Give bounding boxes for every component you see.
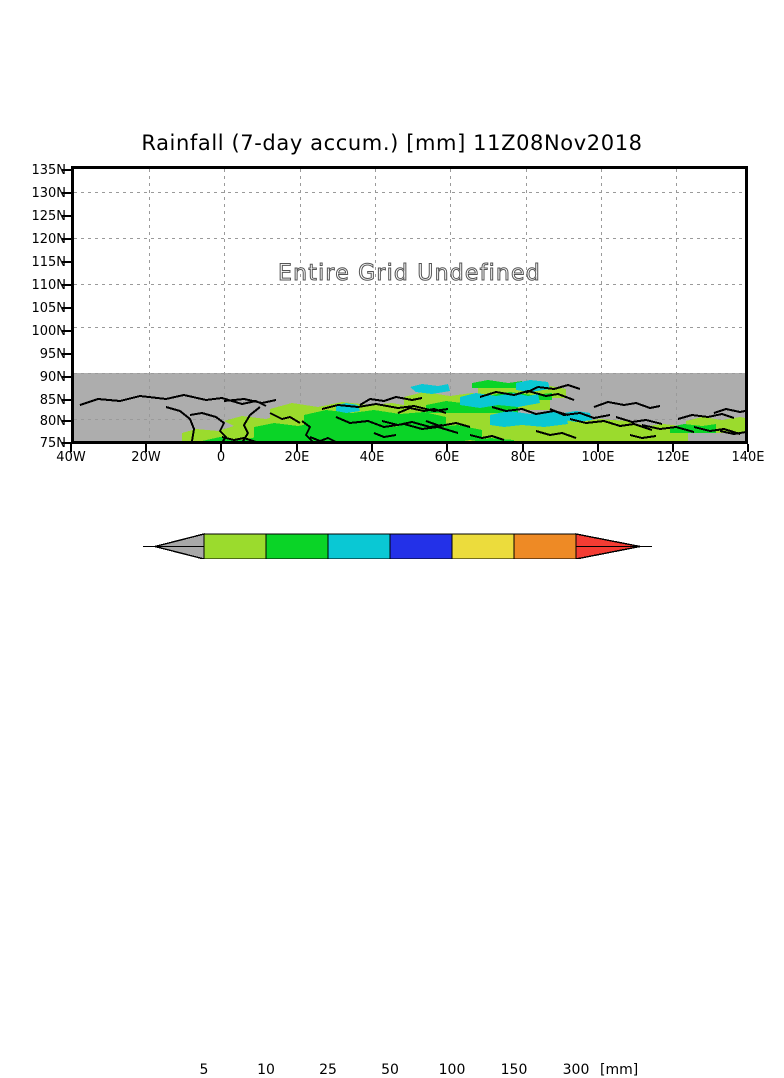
- colorbar-block-5-10: [204, 534, 266, 559]
- y-tick-mark-80n: [62, 420, 71, 422]
- x-tick-mark-80e: [522, 444, 524, 452]
- y-tick-label-100n: 100N: [20, 324, 66, 339]
- y-tick-label-130n: 130N: [20, 186, 66, 201]
- y-tick-mark-120n: [62, 238, 71, 240]
- y-tick-label-120n: 120N: [20, 232, 66, 247]
- y-tick-mark-100n: [62, 330, 71, 332]
- colorbar-tick-150: 150: [484, 1062, 544, 1078]
- y-tick-mark-115n: [62, 261, 71, 263]
- colorbar-block-25-50: [328, 534, 390, 559]
- y-tick-label-115n: 115N: [20, 255, 66, 270]
- colorbar-tick-25: 25: [298, 1062, 358, 1078]
- y-tick-mark-90n: [62, 376, 71, 378]
- y-tick-label-105n: 105N: [20, 301, 66, 316]
- map-canvas: Entire Grid Undefined: [74, 169, 745, 441]
- x-tick-mark-20e: [296, 444, 298, 452]
- x-tick-label-80e: 80E: [493, 450, 553, 465]
- y-tick-label-95n: 95N: [20, 347, 66, 362]
- x-tick-label-40w: 40W: [41, 450, 101, 465]
- x-tick-mark-40e: [371, 444, 373, 452]
- x-tick-mark-20w: [145, 444, 147, 452]
- y-tick-label-90n: 90N: [20, 370, 66, 385]
- y-tick-label-135n: 135N: [20, 163, 66, 178]
- colorbar-units-label: [mm]: [600, 1062, 638, 1078]
- x-tick-label-120e: 120E: [643, 450, 703, 465]
- colorbar-block-50-100: [390, 534, 452, 559]
- x-tick-mark-140e: [747, 444, 749, 452]
- y-tick-label-110n: 110N: [20, 278, 66, 293]
- x-tick-mark-0: [220, 444, 222, 452]
- y-tick-label-125n: 125N: [20, 209, 66, 224]
- rainfall-shading-layer: [74, 169, 748, 444]
- colorbar-tick-5: 5: [174, 1062, 234, 1078]
- y-tick-label-85n: 85N: [20, 393, 66, 408]
- y-tick-mark-85n: [62, 399, 71, 401]
- x-tick-label-100e: 100E: [568, 450, 628, 465]
- x-tick-label-20e: 20E: [267, 450, 327, 465]
- colorbar-tick-50: 50: [360, 1062, 420, 1078]
- y-tick-mark-135n: [62, 169, 71, 171]
- x-tick-mark-100e: [597, 444, 599, 452]
- y-tick-label-75n: 75N: [20, 436, 66, 451]
- colorbar-swatches: [0, 519, 784, 559]
- colorbar-tick-100: 100: [422, 1062, 482, 1078]
- x-tick-label-140e: 140E: [718, 450, 778, 465]
- x-tick-label-60e: 60E: [417, 450, 477, 465]
- page-title: Rainfall (7-day accum.) [mm] 11Z08Nov201…: [0, 131, 784, 155]
- colorbar-block-150-300: [514, 534, 576, 559]
- x-tick-mark-120e: [672, 444, 674, 452]
- colorbar-block-100-150: [452, 534, 514, 559]
- colorbar-tick-300: 300: [546, 1062, 606, 1078]
- x-tick-label-40e: 40E: [342, 450, 402, 465]
- y-tick-mark-110n: [62, 284, 71, 286]
- y-tick-mark-105n: [62, 307, 71, 309]
- colorbar-block-10-25: [266, 534, 328, 559]
- x-tick-label-20w: 20W: [116, 450, 176, 465]
- x-tick-mark-60e: [446, 444, 448, 452]
- colorbar-tick-10: 10: [236, 1062, 296, 1078]
- x-tick-label-0: 0: [191, 450, 251, 465]
- y-tick-mark-95n: [62, 353, 71, 355]
- undefined-grid-notice: Entire Grid Undefined: [74, 261, 745, 286]
- y-tick-mark-130n: [62, 192, 71, 194]
- y-tick-mark-125n: [62, 215, 71, 217]
- colorbar-legend: 5 10 25 50 100 150 300 [mm]: [0, 519, 784, 579]
- x-tick-mark-40w: [70, 444, 72, 452]
- y-tick-label-80n: 80N: [20, 414, 66, 429]
- map-plot-area: Entire Grid Undefined: [71, 166, 748, 444]
